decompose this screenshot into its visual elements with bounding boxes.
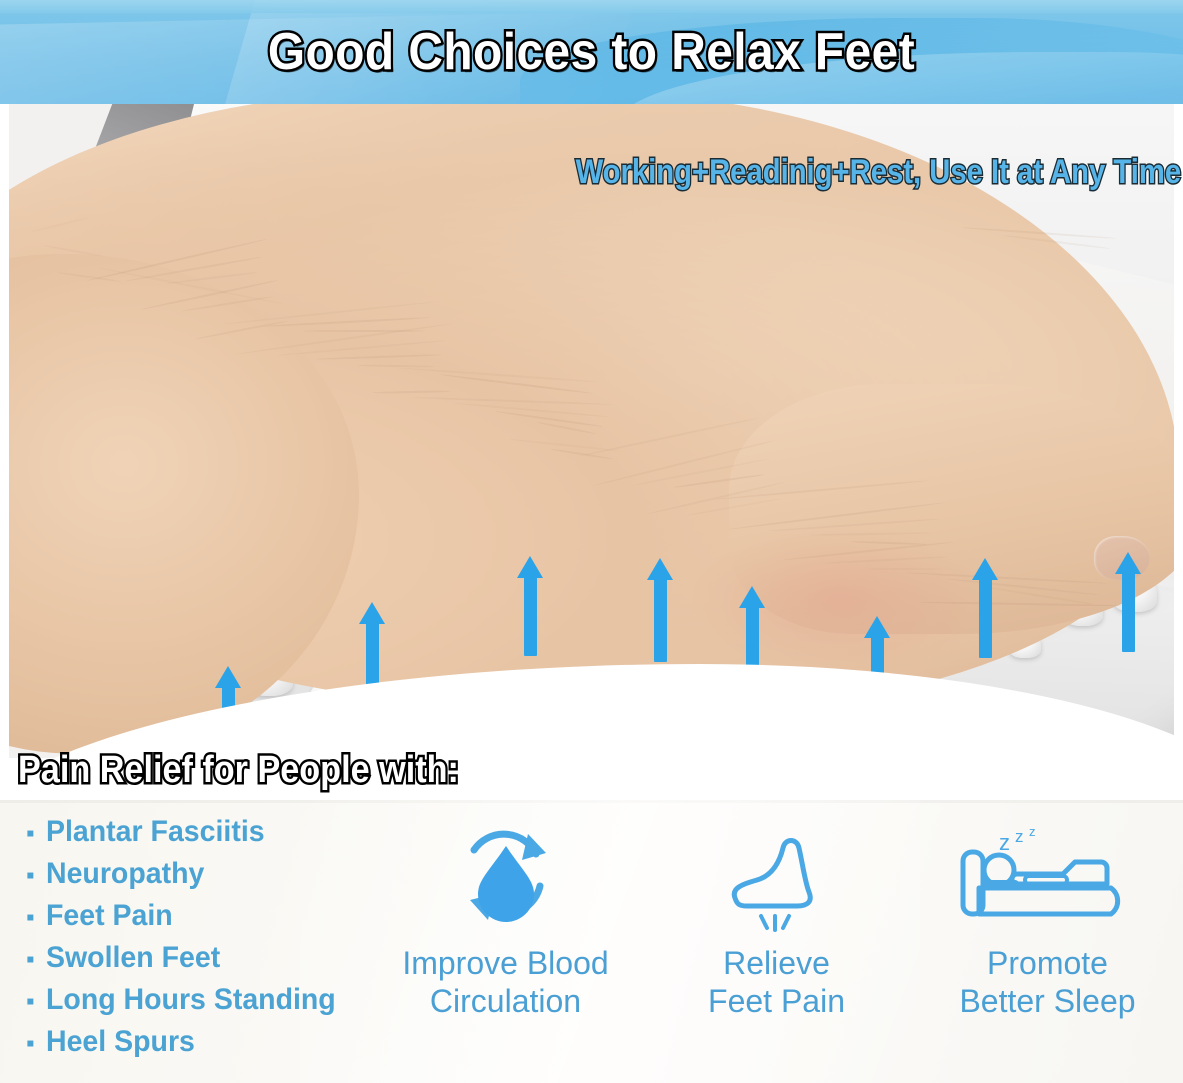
- bullet-marker-icon: ▪: [26, 1029, 39, 1059]
- list-item: ▪ Feet Pain: [26, 898, 351, 934]
- hero-subtitle: Working+Readinig+Rest, Use It at Any Tim…: [575, 152, 1181, 192]
- list-item: ▪ Neuropathy: [26, 856, 351, 892]
- feature-label-line2: Circulation: [402, 982, 608, 1020]
- person-sleeping-bed-icon: z z z: [953, 826, 1143, 938]
- feature-label-line1: Improve Blood: [402, 945, 608, 981]
- arrow-shaft: [1122, 572, 1135, 652]
- condition-label: Heel Spurs: [46, 1024, 195, 1060]
- condition-label: Neuropathy: [46, 856, 204, 892]
- feature-label-line2: Better Sleep: [959, 982, 1135, 1020]
- svg-text:z: z: [1015, 827, 1024, 846]
- condition-label: Plantar Fasciitis: [46, 814, 265, 850]
- svg-text:z: z: [1029, 826, 1036, 839]
- arrow-shaft: [524, 576, 537, 656]
- arrow-head: [739, 586, 765, 608]
- feature-label-line1: Promote: [987, 945, 1108, 981]
- pressure-arrow-icon: [647, 558, 673, 662]
- photo-inner-frame: [9, 104, 1174, 794]
- bullet-marker-icon: ▪: [26, 987, 39, 1017]
- list-item: ▪ Swollen Feet: [26, 940, 351, 976]
- bullet-marker-icon: ▪: [26, 945, 39, 975]
- benefit-features: Improve Blood Circulation Relieve Feet: [370, 826, 1183, 1020]
- pressure-arrow-icon: [972, 558, 998, 658]
- arrow-shaft: [979, 578, 992, 658]
- header-banner: Good Choices to Relax Feet: [0, 0, 1183, 104]
- poster-title: Good Choices to Relax Feet: [47, 22, 1135, 82]
- arrow-head: [1115, 552, 1141, 574]
- arrow-head: [864, 616, 890, 638]
- feature-relieve-feet-pain: Relieve Feet Pain: [641, 826, 912, 1020]
- feature-label: Relieve Feet Pain: [708, 944, 845, 1020]
- condition-label: Feet Pain: [46, 898, 173, 934]
- feature-improve-blood-circulation: Improve Blood Circulation: [370, 826, 641, 1020]
- arrow-shaft: [654, 578, 667, 662]
- foot-pain-relief-icon: [713, 826, 841, 938]
- pressure-arrow-icon: [517, 556, 543, 656]
- arrow-head: [359, 602, 385, 624]
- conditions-list: ▪ Plantar Fasciitis ▪ Neuropathy ▪ Feet …: [26, 814, 351, 1066]
- feature-label-line2: Feet Pain: [708, 982, 845, 1020]
- skin-crease: [865, 568, 943, 570]
- list-item: ▪ Plantar Fasciitis: [26, 814, 351, 850]
- svg-text:z: z: [999, 830, 1010, 855]
- product-marketing-poster: Good Choices to Relax Feet Working+Readi…: [0, 0, 1183, 1083]
- pain-relief-headline: Pain Relief for People with:: [18, 747, 459, 793]
- bullet-marker-icon: ▪: [26, 903, 39, 933]
- arrow-head: [972, 558, 998, 580]
- bullet-marker-icon: ▪: [26, 861, 39, 891]
- water-drop-circulation-icon: [440, 826, 572, 938]
- list-item: ▪ Heel Spurs: [26, 1024, 351, 1060]
- feature-promote-better-sleep: z z z Promote Better Sleep: [912, 826, 1183, 1020]
- condition-label: Long Hours Standing: [46, 982, 336, 1018]
- bullet-marker-icon: ▪: [26, 819, 39, 849]
- arrow-head: [215, 666, 241, 688]
- arrow-head: [517, 556, 543, 578]
- product-photo: [0, 104, 1183, 804]
- list-item: ▪ Long Hours Standing: [26, 982, 351, 1018]
- feature-label: Improve Blood Circulation: [402, 944, 608, 1020]
- feature-label: Promote Better Sleep: [959, 944, 1135, 1020]
- benefits-panel: ▪ Plantar Fasciitis ▪ Neuropathy ▪ Feet …: [0, 800, 1183, 1083]
- pressure-arrow-icon: [1115, 552, 1141, 652]
- arrow-head: [647, 558, 673, 580]
- header-top-highlight: [0, 0, 1183, 13]
- foot-blush: [689, 524, 989, 674]
- condition-label: Swollen Feet: [46, 940, 220, 976]
- feature-label-line1: Relieve: [723, 945, 830, 981]
